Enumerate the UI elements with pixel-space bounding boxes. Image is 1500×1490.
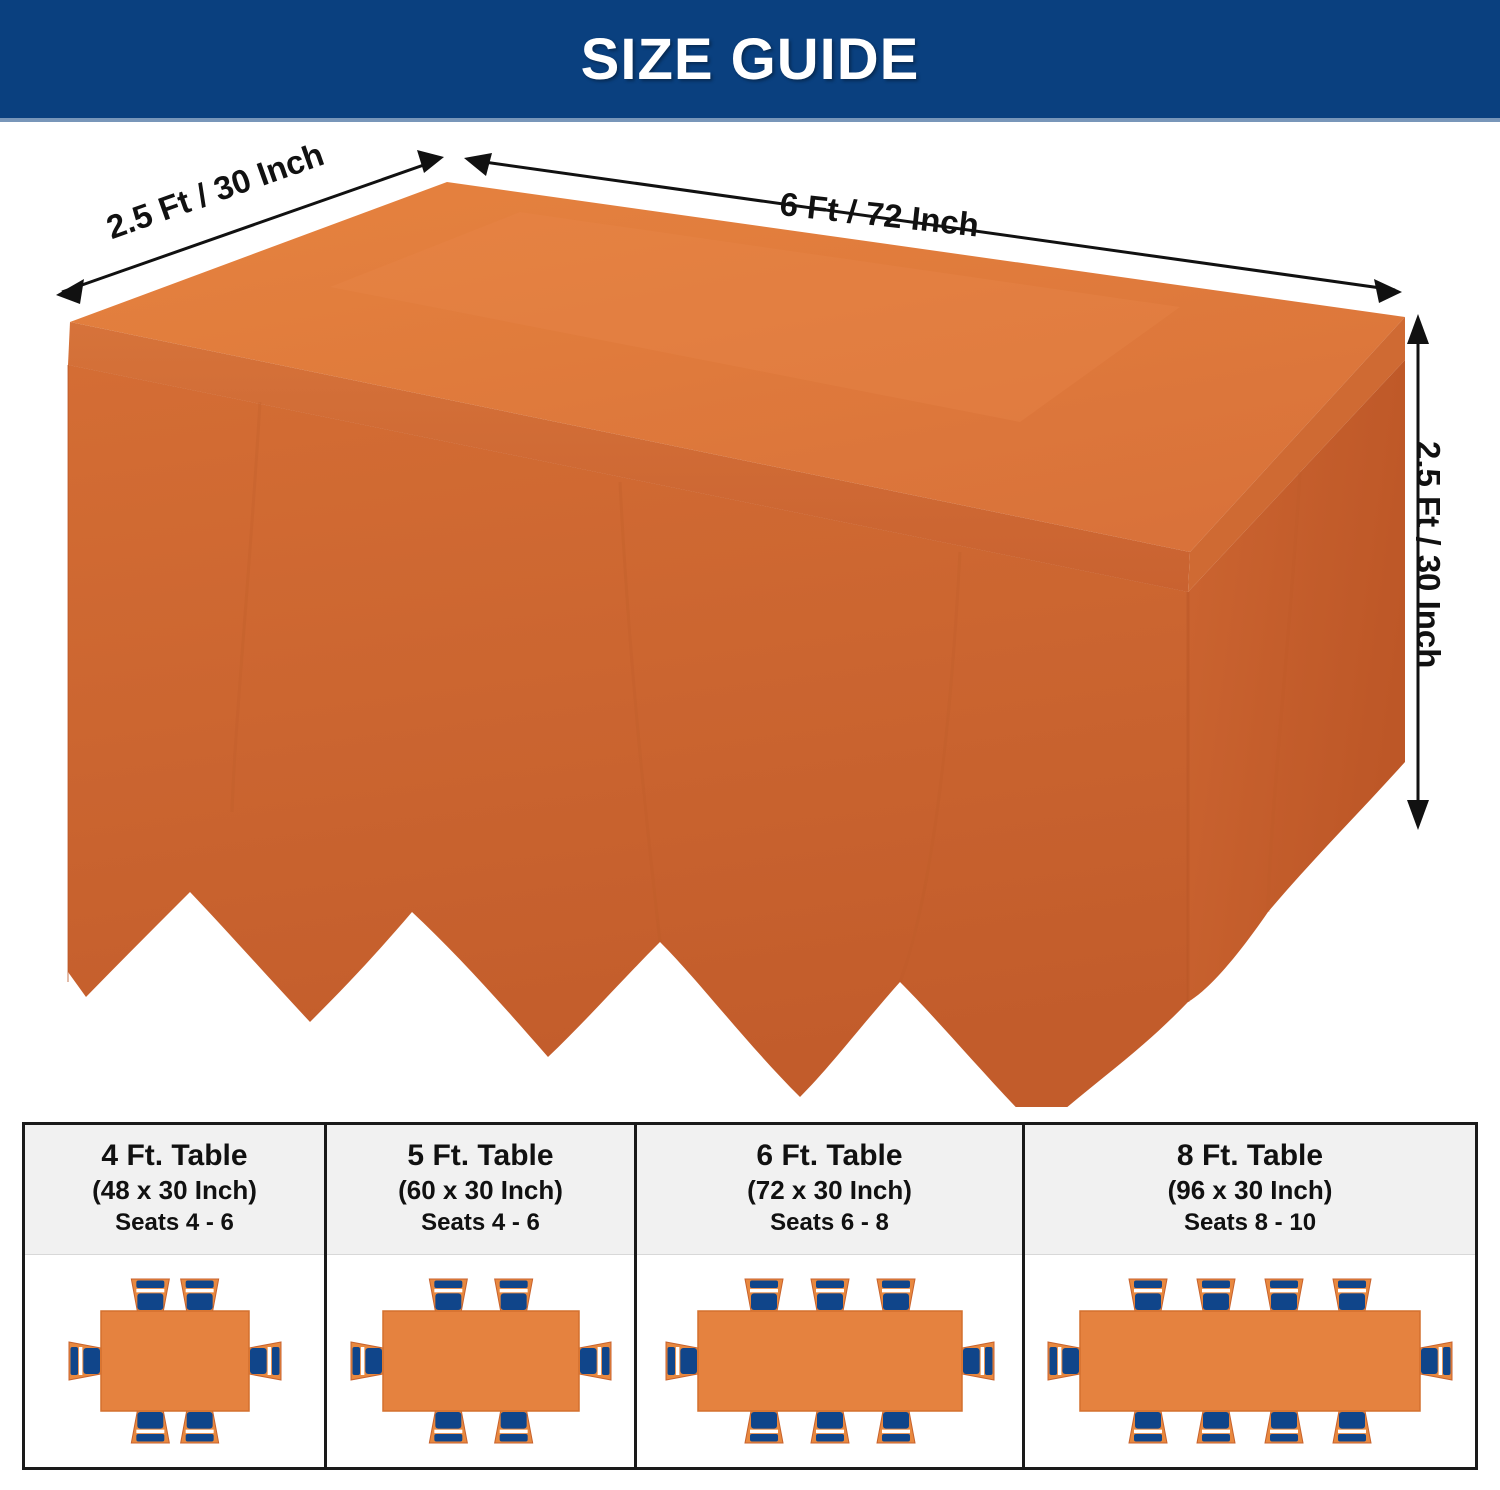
chair-seat [963, 1348, 980, 1374]
page-title: SIZE GUIDE [581, 26, 920, 93]
chair-icon [666, 1342, 698, 1380]
chair-gap [1202, 1429, 1230, 1433]
chair-seat [137, 1293, 163, 1310]
chair-seat [1203, 1293, 1229, 1310]
chair-seat [580, 1348, 597, 1374]
size-card-6ft: 6 Ft. Table (72 x 30 Inch) Seats 6 - 8 [637, 1125, 1025, 1467]
chair-icon [962, 1342, 994, 1380]
spandex-cover [68, 182, 1405, 1107]
chair-gap [675, 1347, 679, 1375]
chair-seat [435, 1412, 461, 1429]
chair-seat [1203, 1412, 1229, 1429]
chair-icon [429, 1279, 467, 1311]
chair-seat [751, 1412, 777, 1429]
size-card-8ft: 8 Ft. Table (96 x 30 Inch) Seats 8 - 10 [1025, 1125, 1475, 1467]
size-card-header: 4 Ft. Table (48 x 30 Inch) Seats 4 - 6 [25, 1125, 324, 1255]
table-top [698, 1311, 962, 1411]
chair-seat [500, 1412, 526, 1429]
chair-icon [351, 1342, 383, 1380]
size-card-seats: Seats 6 - 8 [643, 1209, 1016, 1238]
chair-seat [1135, 1293, 1161, 1310]
chair-back [136, 1434, 164, 1442]
chair-gap [136, 1429, 164, 1433]
chair-back [185, 1434, 213, 1442]
chair-gap [499, 1289, 527, 1293]
size-card-header: 5 Ft. Table (60 x 30 Inch) Seats 4 - 6 [327, 1125, 634, 1255]
chair-back [352, 1347, 360, 1375]
chair-back [136, 1280, 164, 1288]
size-card-dimensions: (72 x 30 Inch) [643, 1175, 1016, 1206]
chair-back [1338, 1434, 1366, 1442]
chair-seat [680, 1348, 697, 1374]
chair-gap [816, 1429, 844, 1433]
chair-icon [745, 1279, 783, 1311]
chair-gap [1134, 1429, 1162, 1433]
chair-back [70, 1347, 78, 1375]
chair-gap [434, 1289, 462, 1293]
chair-back [750, 1280, 778, 1288]
chair-gap [750, 1429, 778, 1433]
chair-seat [1339, 1412, 1365, 1429]
chair-back [816, 1434, 844, 1442]
chair-back [1338, 1280, 1366, 1288]
chair-gap [1338, 1289, 1366, 1293]
seating-diagram-4ft [25, 1255, 324, 1467]
chair-icon [745, 1411, 783, 1443]
chair-gap [1058, 1347, 1062, 1375]
chair-seat [500, 1293, 526, 1310]
chair-back [1270, 1434, 1298, 1442]
chair-back [1134, 1280, 1162, 1288]
chair-icon [249, 1342, 281, 1380]
chair-seat [883, 1412, 909, 1429]
size-card-dimensions: (48 x 30 Inch) [31, 1175, 318, 1206]
chair-gap [434, 1429, 462, 1433]
chair-gap [980, 1347, 984, 1375]
chair-back [985, 1347, 993, 1375]
chair-seat [1271, 1293, 1297, 1310]
chair-icon [131, 1279, 169, 1311]
chair-back [882, 1434, 910, 1442]
chair-icon [1420, 1342, 1452, 1380]
chair-icon [1333, 1411, 1371, 1443]
chair-gap [750, 1289, 778, 1293]
chair-seat [751, 1293, 777, 1310]
chair-icon [1048, 1342, 1080, 1380]
chair-icon [1333, 1279, 1371, 1311]
chair-seat [365, 1348, 382, 1374]
chair-gap [185, 1289, 213, 1293]
chair-back [272, 1347, 280, 1375]
chair-gap [882, 1429, 910, 1433]
chair-back [750, 1434, 778, 1442]
chair-gap [1134, 1289, 1162, 1293]
chair-seat [1062, 1348, 1079, 1374]
chair-gap [360, 1347, 364, 1375]
chair-gap [1202, 1289, 1230, 1293]
size-card-seats: Seats 4 - 6 [333, 1209, 628, 1238]
chair-back [499, 1280, 527, 1288]
seating-diagram-5ft [327, 1255, 634, 1467]
chair-seat [186, 1412, 212, 1429]
chair-gap [78, 1347, 82, 1375]
chair-back [1270, 1280, 1298, 1288]
chair-seat [883, 1293, 909, 1310]
size-card-title: 4 Ft. Table [31, 1139, 318, 1173]
chair-seat [83, 1348, 100, 1374]
chair-gap [816, 1289, 844, 1293]
chair-gap [1338, 1429, 1366, 1433]
chair-seat [817, 1293, 843, 1310]
seating-diagram-8ft [1025, 1255, 1475, 1467]
size-card-seats: Seats 4 - 6 [31, 1209, 318, 1238]
chair-back [1443, 1347, 1451, 1375]
chair-icon [429, 1411, 467, 1443]
table-cover-drawing [0, 122, 1500, 1107]
size-card-dimensions: (96 x 30 Inch) [1031, 1175, 1469, 1206]
chair-gap [882, 1289, 910, 1293]
header-banner: SIZE GUIDE [0, 0, 1500, 118]
chair-back [434, 1434, 462, 1442]
chair-back [434, 1280, 462, 1288]
size-card-4ft: 4 Ft. Table (48 x 30 Inch) Seats 4 - 6 [25, 1125, 327, 1467]
size-card-5ft: 5 Ft. Table (60 x 30 Inch) Seats 4 - 6 [327, 1125, 637, 1467]
size-card-header: 8 Ft. Table (96 x 30 Inch) Seats 8 - 10 [1025, 1125, 1475, 1255]
chair-back [1050, 1347, 1058, 1375]
size-card-dimensions: (60 x 30 Inch) [333, 1175, 628, 1206]
chair-seat [1135, 1412, 1161, 1429]
chair-seat [250, 1348, 267, 1374]
chair-back [816, 1280, 844, 1288]
chair-icon [877, 1279, 915, 1311]
chair-gap [136, 1289, 164, 1293]
chair-gap [185, 1429, 213, 1433]
chair-icon [811, 1411, 849, 1443]
chair-gap [1439, 1347, 1443, 1375]
chair-gap [1270, 1429, 1298, 1433]
table-top [101, 1311, 249, 1411]
chair-back [185, 1280, 213, 1288]
seating-layout-svg [650, 1256, 1010, 1466]
chair-seat [435, 1293, 461, 1310]
chair-back [1134, 1434, 1162, 1442]
chair-icon [1197, 1279, 1235, 1311]
seating-diagram-6ft [637, 1255, 1022, 1467]
seating-layout-svg [40, 1256, 310, 1466]
product-illustration: 2.5 Ft / 30 Inch 6 Ft / 72 Inch 2.5 Ft /… [0, 122, 1500, 1107]
chair-icon [811, 1279, 849, 1311]
chair-gap [267, 1347, 271, 1375]
chair-icon [1129, 1279, 1167, 1311]
seating-layout-svg [336, 1256, 626, 1466]
chair-icon [579, 1342, 611, 1380]
chair-seat [186, 1293, 212, 1310]
chair-seat [137, 1412, 163, 1429]
dimension-label-height: 2.5 Ft / 30 Inch [1409, 441, 1447, 668]
table-size-cards: 4 Ft. Table (48 x 30 Inch) Seats 4 - 6 5… [22, 1122, 1478, 1470]
chair-back [602, 1347, 610, 1375]
size-card-header: 6 Ft. Table (72 x 30 Inch) Seats 6 - 8 [637, 1125, 1022, 1255]
table-top [383, 1311, 579, 1411]
chair-icon [1265, 1411, 1303, 1443]
size-card-title: 8 Ft. Table [1031, 1139, 1469, 1173]
chair-gap [499, 1429, 527, 1433]
chair-icon [180, 1411, 218, 1443]
chair-back [882, 1280, 910, 1288]
chair-back [499, 1434, 527, 1442]
size-card-seats: Seats 8 - 10 [1031, 1209, 1469, 1238]
chair-seat [817, 1412, 843, 1429]
chair-back [1202, 1434, 1230, 1442]
chair-icon [1129, 1411, 1167, 1443]
chair-back [667, 1347, 675, 1375]
chair-gap [597, 1347, 601, 1375]
chair-icon [1265, 1279, 1303, 1311]
chair-icon [180, 1279, 218, 1311]
seating-layout-svg [1030, 1256, 1470, 1466]
chair-back [1202, 1280, 1230, 1288]
chair-icon [1197, 1411, 1235, 1443]
size-card-title: 6 Ft. Table [643, 1139, 1016, 1173]
chair-icon [131, 1411, 169, 1443]
chair-icon [494, 1279, 532, 1311]
chair-icon [69, 1342, 101, 1380]
chair-icon [494, 1411, 532, 1443]
chair-seat [1339, 1293, 1365, 1310]
chair-icon [877, 1411, 915, 1443]
chair-gap [1270, 1289, 1298, 1293]
chair-seat [1421, 1348, 1438, 1374]
size-card-title: 5 Ft. Table [333, 1139, 628, 1173]
chair-seat [1271, 1412, 1297, 1429]
table-top [1080, 1311, 1420, 1411]
